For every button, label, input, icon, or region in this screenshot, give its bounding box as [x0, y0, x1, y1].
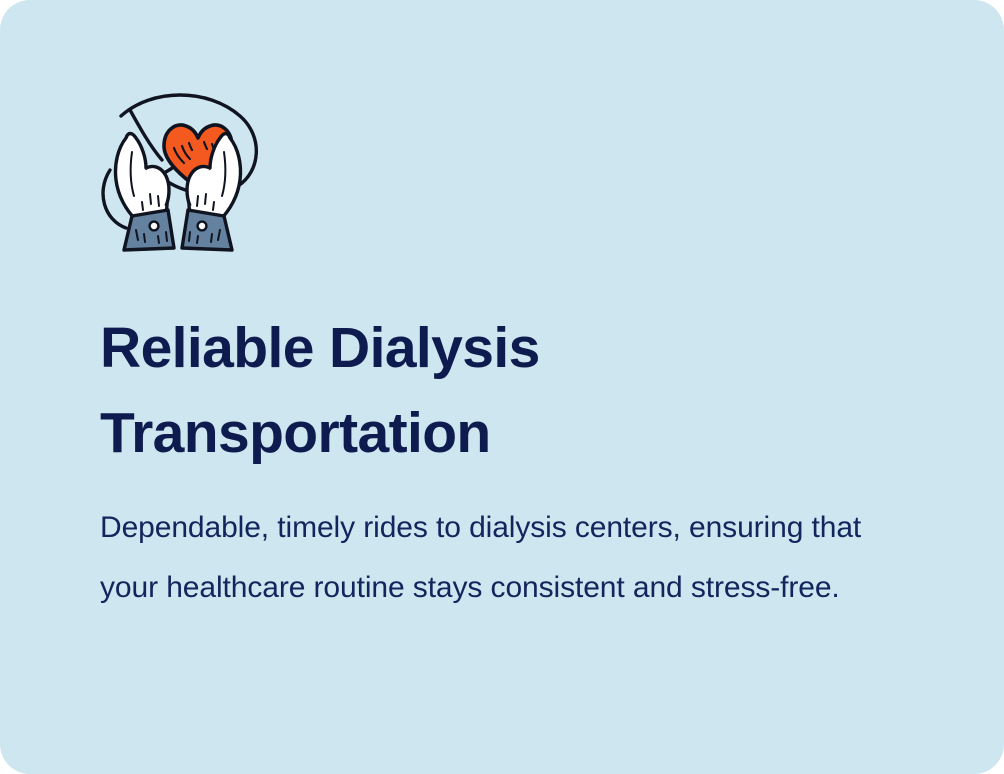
card-description: Dependable, timely rides to dialysis cen… [100, 476, 875, 618]
card-title: Reliable Dialysis Transportation [100, 306, 640, 476]
left-cuff-button [150, 222, 159, 231]
right-cuff-button [198, 222, 207, 231]
right-cuff [182, 210, 232, 250]
hands-holding-heart-icon [88, 86, 268, 254]
feature-card: Reliable Dialysis Transportation Dependa… [0, 0, 1004, 774]
left-cuff [124, 210, 174, 250]
card-text-block: Reliable Dialysis Transportation Dependa… [100, 306, 900, 618]
